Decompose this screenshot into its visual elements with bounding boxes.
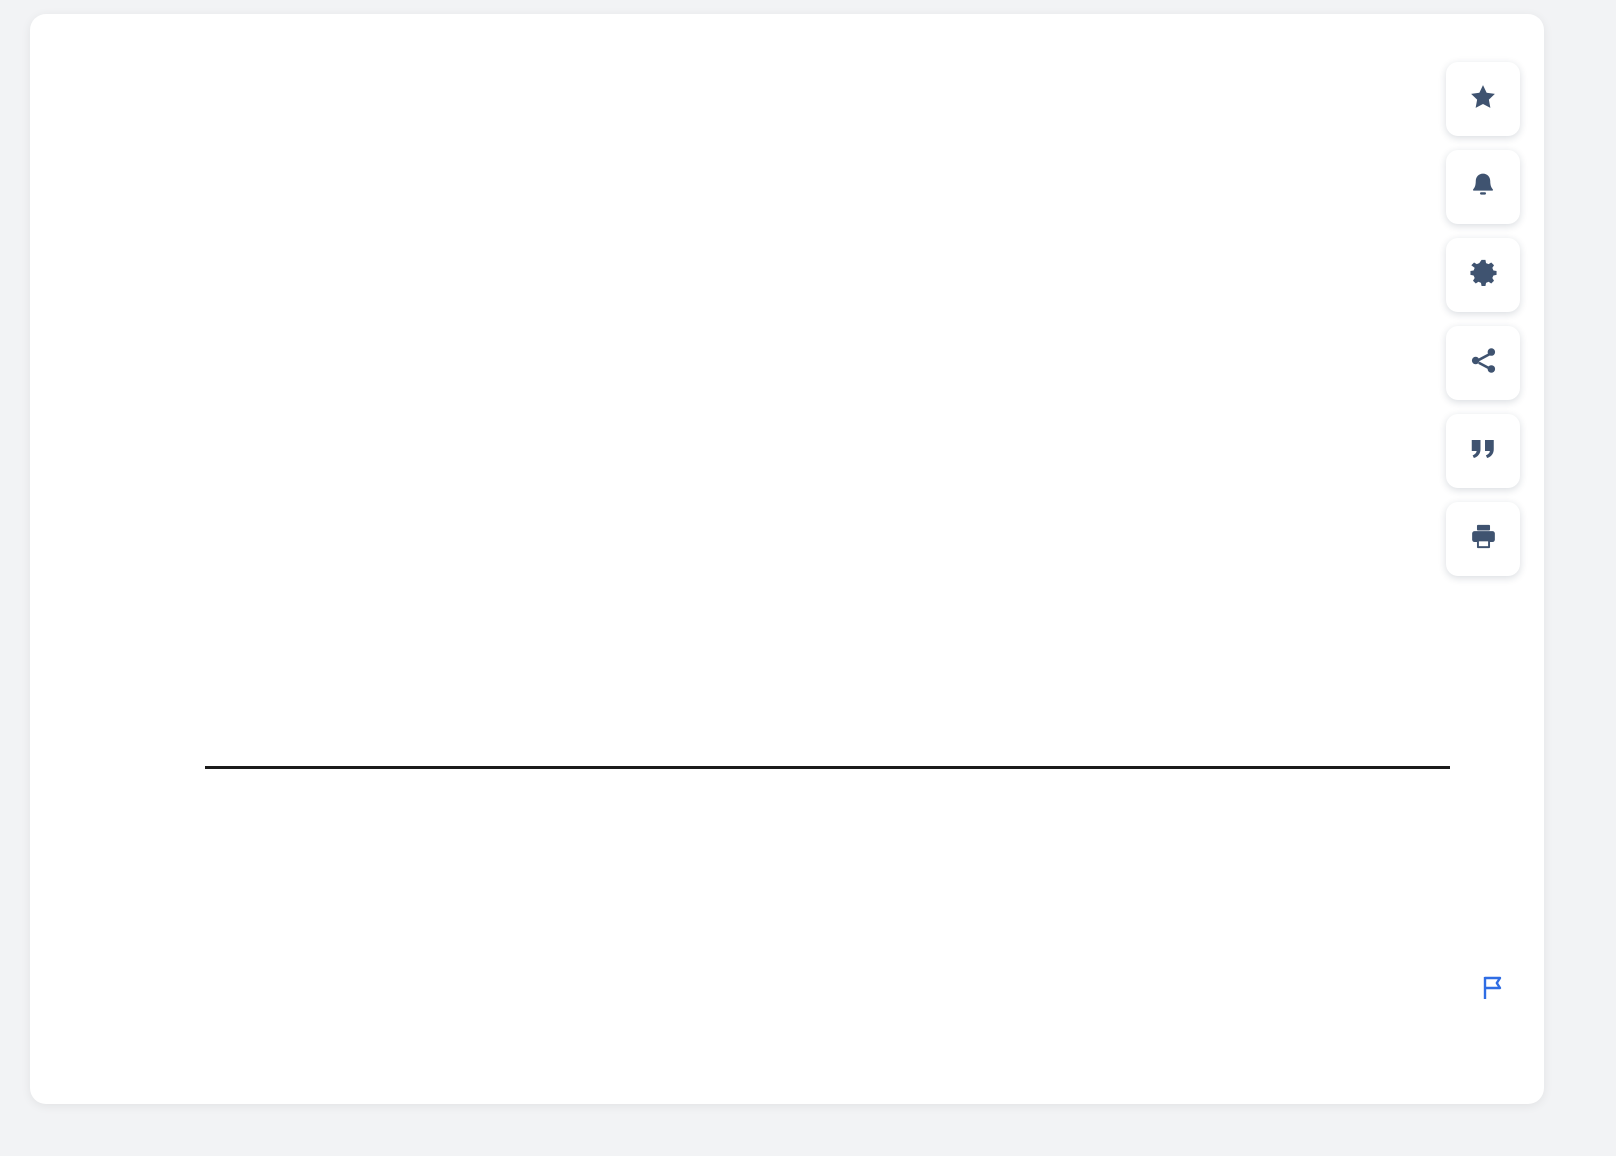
- alerts-button[interactable]: [1446, 150, 1520, 224]
- print-button[interactable]: [1446, 502, 1520, 576]
- y-axis-tick-labels: [125, 109, 185, 769]
- print-icon: [1469, 522, 1498, 556]
- plot-area: [205, 109, 1450, 769]
- cite-button[interactable]: [1446, 414, 1520, 488]
- action-toolbar: [1446, 62, 1520, 576]
- chart-footer: [92, 976, 1504, 1011]
- copyright[interactable]: [1470, 976, 1504, 1011]
- chart-card: [30, 14, 1544, 1104]
- flag-icon: [1482, 976, 1504, 1007]
- quote-icon: [1468, 436, 1498, 467]
- share-icon: [1469, 346, 1498, 380]
- x-axis-line: [205, 766, 1450, 769]
- settings-button[interactable]: [1446, 238, 1520, 312]
- star-icon: [1468, 82, 1498, 117]
- share-button[interactable]: [1446, 326, 1520, 400]
- bell-icon: [1469, 170, 1497, 205]
- x-axis-tick-labels: [205, 779, 1450, 824]
- gear-icon: [1469, 258, 1498, 292]
- favorite-button[interactable]: [1446, 62, 1520, 136]
